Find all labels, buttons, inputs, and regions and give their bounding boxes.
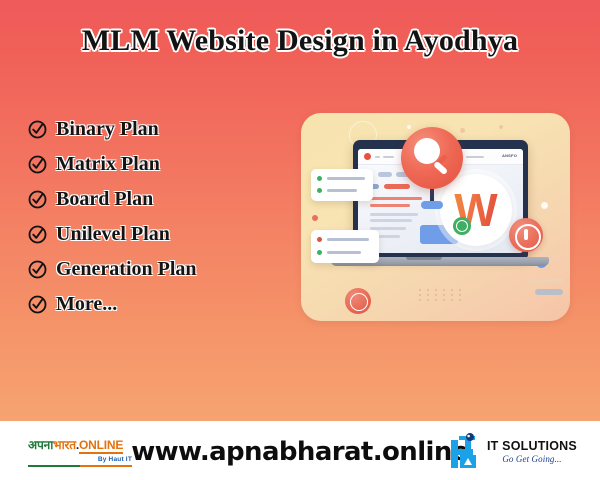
check-circle-icon <box>28 260 47 279</box>
feature-list: Binary Plan Matrix Plan Board Plan <box>28 112 278 322</box>
screen-line <box>370 219 412 222</box>
feature-label: Binary Plan <box>56 118 159 141</box>
it-solutions-tagline: Go Get Going... <box>487 455 577 464</box>
laptop-notch <box>406 257 442 260</box>
check-circle-icon <box>28 155 47 174</box>
card-line <box>327 189 357 192</box>
magnifier-knob <box>421 201 443 209</box>
screen-highlight-line <box>384 184 410 189</box>
card-line <box>327 251 361 254</box>
drop-ring <box>515 224 541 250</box>
screen-line <box>370 204 410 207</box>
list-item: Binary Plan <box>28 112 278 147</box>
feature-label: Unilevel Plan <box>56 223 170 246</box>
decor-dot <box>460 128 465 133</box>
list-item: Generation Plan <box>28 252 278 287</box>
feature-label: Matrix Plan <box>56 153 160 176</box>
drop-tick <box>524 229 528 240</box>
it-solutions-logo[interactable]: IT SOLUTIONS Go Get Going... <box>448 431 588 473</box>
it-solutions-title: IT SOLUTIONS <box>487 440 577 453</box>
bottom-badge-ring <box>350 293 368 311</box>
drop-badge-icon <box>509 218 543 252</box>
check-badge-ring <box>456 220 468 232</box>
magnifier-lens <box>414 138 440 164</box>
list-item: More... <box>28 287 278 322</box>
check-badge-icon <box>453 217 471 235</box>
decor-dot <box>499 125 503 129</box>
screen-chip <box>378 172 392 177</box>
list-item: Unilevel Plan <box>28 217 278 252</box>
bottom-badge-icon <box>345 288 371 314</box>
check-circle-icon <box>28 120 47 139</box>
decor-line <box>529 279 563 283</box>
screen-line <box>370 213 418 216</box>
browser-bar-text: ANSFO <box>502 153 517 158</box>
decor-dot <box>541 202 548 209</box>
status-dot <box>317 176 322 181</box>
status-dot <box>317 250 322 255</box>
illustration-card: ANSFO W <box>301 113 570 321</box>
floating-card <box>311 230 379 263</box>
status-dot <box>317 188 322 193</box>
browser-nav-line <box>466 156 484 158</box>
feature-label: More... <box>56 293 117 316</box>
poster-canvas: MLM Website Design in Ayodhya Binary Pla… <box>0 0 600 480</box>
decor-dot <box>407 125 411 129</box>
check-circle-icon <box>28 190 47 209</box>
decor-line <box>535 289 563 295</box>
browser-logo-icon <box>364 153 371 160</box>
status-dot <box>317 237 322 242</box>
card-line <box>327 238 369 241</box>
floating-card <box>311 169 373 201</box>
illustration-scene: ANSFO W <box>301 113 570 321</box>
list-item: Matrix Plan <box>28 147 278 182</box>
dot-grid-decor <box>419 289 465 305</box>
feature-label: Generation Plan <box>56 258 197 281</box>
page-title: MLM Website Design in Ayodhya <box>0 24 600 58</box>
browser-nav-line <box>375 156 380 158</box>
it-solutions-mark-icon <box>448 433 482 471</box>
it-solutions-text: IT SOLUTIONS Go Get Going... <box>487 440 577 465</box>
search-icon <box>401 127 463 189</box>
brand-logo-circle: W <box>440 174 512 246</box>
browser-nav-line <box>383 156 394 158</box>
list-item: Board Plan <box>28 182 278 217</box>
screen-line <box>370 197 422 200</box>
card-line <box>327 177 365 180</box>
check-circle-icon <box>28 225 47 244</box>
screen-line <box>370 227 406 230</box>
feature-label: Board Plan <box>56 188 153 211</box>
check-circle-icon <box>28 295 47 314</box>
decor-dot <box>312 215 318 221</box>
